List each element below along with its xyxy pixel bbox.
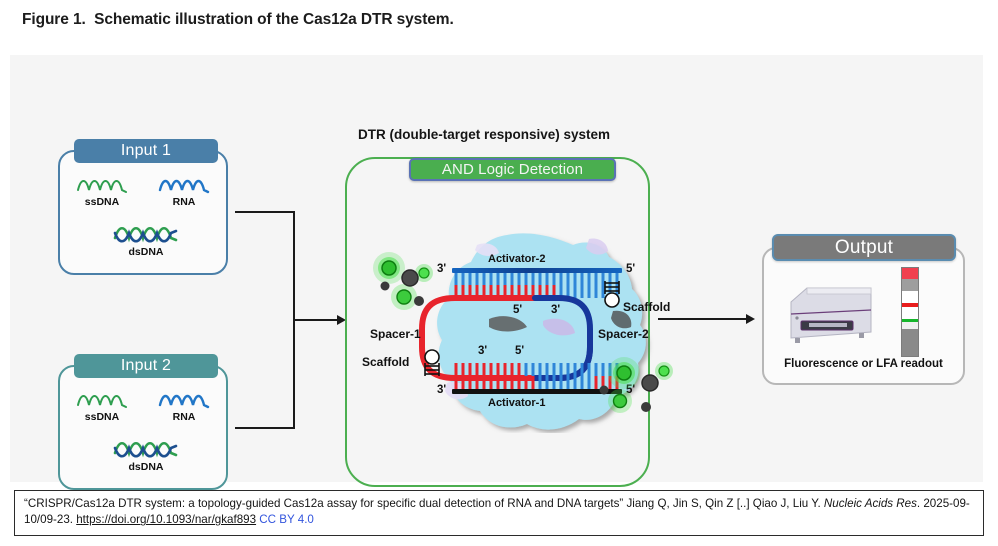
input-box-1: Input 1 ssDNA RNA dsDNA [58, 150, 228, 275]
rna-wave-icon-1 [158, 176, 210, 194]
ssdna-wave-icon-2 [76, 391, 128, 409]
input-box-2: Input 2 ssDNA RNA dsDNA [58, 365, 228, 490]
connector-bottom [235, 427, 295, 429]
ssdna-wave-icon-1 [76, 176, 128, 194]
arrow-head-to-output [746, 314, 755, 324]
connector-top [235, 211, 295, 213]
activator-1-strand [452, 389, 622, 394]
spacer-2-label: Spacer-2 [598, 327, 649, 341]
input-2-label-ssdna: ssDNA [70, 411, 134, 423]
input-1-header: Input 1 [74, 139, 218, 163]
output-header: Output [772, 234, 956, 261]
prime-bottom-left: 3' [437, 384, 446, 396]
prime-low-right: 5' [515, 345, 524, 357]
dsdna-wave-icon-1 [113, 222, 179, 244]
output-caption: Fluorescence or LFA readout [762, 358, 965, 370]
input-1-label-ssdna: ssDNA [70, 196, 134, 208]
fluorophore-cluster-left [372, 251, 458, 319]
citation-journal: Nucleic Acids Res [824, 497, 917, 510]
dsdna-wave-icon-2 [113, 437, 179, 459]
spacer-loops [345, 157, 650, 487]
input-1-label-rna: RNA [154, 196, 214, 208]
citation-quote: “CRISPR/Cas12a DTR system: a topology-gu… [24, 497, 824, 510]
connector-to-output [658, 318, 748, 320]
fluorescence-reader-icon [785, 280, 877, 350]
scaffold-left-label: Scaffold [362, 355, 409, 369]
connector-to-center [295, 319, 339, 321]
rna-wave-icon-2 [158, 391, 210, 409]
activator-1-label: Activator-1 [488, 397, 545, 409]
citation-doi-link[interactable]: https://doi.org/10.1093/nar/gkaf893 [76, 513, 256, 526]
figure-panel: Input 1 ssDNA RNA dsDNA Input 2 ssDNA RN… [10, 55, 983, 482]
citation-box: “CRISPR/Cas12a DTR system: a topology-gu… [14, 490, 984, 536]
input-2-label-rna: RNA [154, 411, 214, 423]
dtr-system-title: DTR (double-target responsive) system [358, 127, 610, 142]
fluorophore-cluster-right [598, 355, 688, 421]
scaffold-right-label: Scaffold [623, 300, 670, 314]
page-title: Figure 1. Schematic illustration of the … [22, 11, 454, 29]
citation-license-link[interactable]: CC BY 4.0 [259, 513, 314, 526]
input-2-label-dsdna: dsDNA [111, 461, 181, 473]
prime-low-left: 3' [478, 345, 487, 357]
scaffold-hairpin-icon-right [598, 279, 626, 309]
scaffold-hairpin-icon-left [418, 348, 446, 378]
input-2-header: Input 2 [74, 354, 218, 378]
spacer-1-label: Spacer-1 [370, 327, 421, 341]
input-1-label-dsdna: dsDNA [111, 246, 181, 258]
lfa-strip [901, 267, 919, 357]
